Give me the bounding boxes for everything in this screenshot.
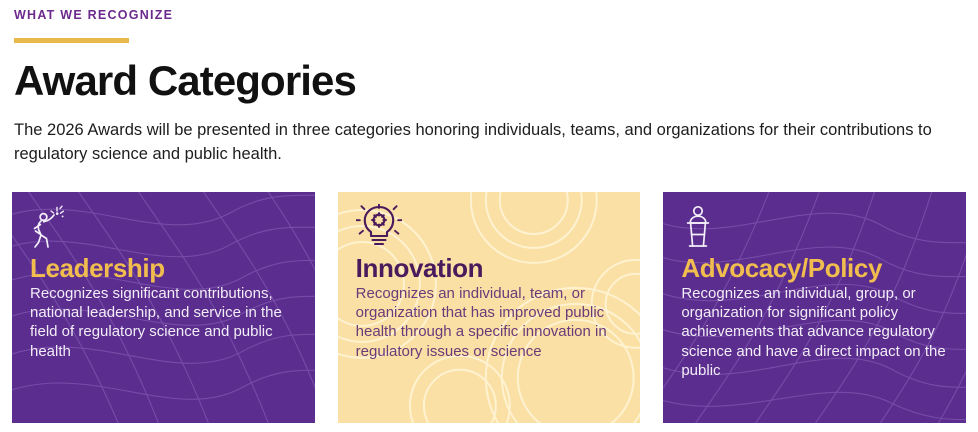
award-card-advocacy-policy[interactable]: Advocacy/Policy Recognizes an individual… <box>663 192 966 423</box>
podium-speaker-icon <box>681 204 950 250</box>
gold-rule-divider <box>14 38 129 43</box>
card-title: Advocacy/Policy <box>681 254 950 282</box>
section-header: WHAT WE RECOGNIZE Award Categories The 2… <box>0 0 978 166</box>
award-category-card-list: Leadership Recognizes significant contri… <box>12 192 966 423</box>
card-description: Recognizes an individual, group, or orga… <box>681 284 950 380</box>
running-person-star-icon <box>30 204 299 250</box>
lightbulb-gear-icon <box>356 204 625 250</box>
award-categories-section: WHAT WE RECOGNIZE Award Categories The 2… <box>0 0 978 432</box>
card-description: Recognizes an individual, team, or organ… <box>356 284 625 361</box>
card-title: Leadership <box>30 254 299 282</box>
award-card-innovation[interactable]: Innovation Recognizes an individual, tea… <box>338 192 641 423</box>
card-description: Recognizes significant contributions, na… <box>30 284 299 361</box>
page-title: Award Categories <box>14 59 978 103</box>
section-intro-paragraph: The 2026 Awards will be presented in thr… <box>14 119 944 166</box>
section-eyebrow: WHAT WE RECOGNIZE <box>14 8 978 23</box>
award-card-leadership[interactable]: Leadership Recognizes significant contri… <box>12 192 315 423</box>
card-title: Innovation <box>356 254 625 282</box>
